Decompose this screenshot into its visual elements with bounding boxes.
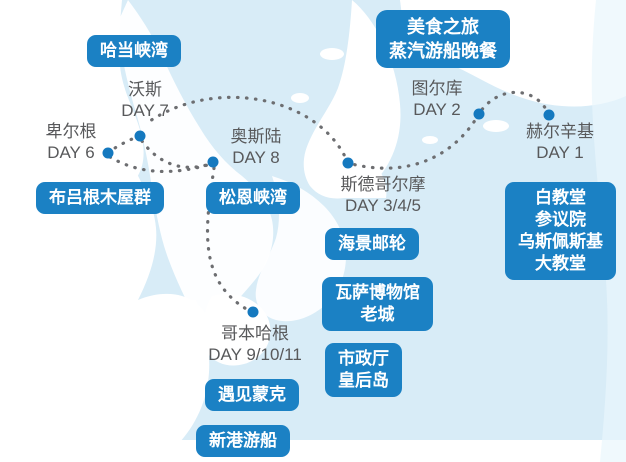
city-day-oslo: DAY 8 — [231, 147, 282, 168]
city-dot-copenhagen[interactable] — [248, 307, 259, 318]
badge-helsinki-sights-line-4: 大教堂 — [518, 253, 603, 275]
city-label-helsinki: 赫尔辛基 DAY 1 — [526, 121, 594, 163]
badge-helsinki-sights-line-2: 参议院 — [518, 209, 603, 231]
city-dot-bergen[interactable] — [103, 148, 114, 159]
city-day-bergen: DAY 6 — [46, 142, 97, 163]
badge-helsinki-sights-line-3: 乌斯佩斯基 — [518, 231, 603, 253]
city-dot-voss[interactable] — [135, 131, 146, 142]
city-name-voss: 沃斯 — [121, 79, 169, 100]
badge-nyhavn-cruise[interactable]: 新港游船 — [196, 425, 290, 457]
city-day-turku: DAY 2 — [412, 99, 463, 120]
badge-vasa-oldtown-line-2: 老城 — [335, 304, 420, 326]
badge-sea-cruise-line-1: 海景邮轮 — [338, 233, 406, 255]
badge-hardangerfjord[interactable]: 哈当峡湾 — [87, 35, 181, 67]
badge-vasa-oldtown-line-1: 瓦萨博物馆 — [335, 282, 420, 304]
badge-food-tour-line-2: 蒸汽游船晚餐 — [389, 39, 497, 63]
badge-food-tour[interactable]: 美食之旅 蒸汽游船晚餐 — [376, 10, 510, 68]
badge-sognefjord[interactable]: 松恩峡湾 — [206, 182, 300, 214]
city-day-stockholm: DAY 3/4/5 — [341, 195, 426, 216]
city-name-turku: 图尔库 — [412, 78, 463, 99]
city-day-helsinki: DAY 1 — [526, 142, 594, 163]
badge-meet-munch[interactable]: 遇见蒙克 — [205, 379, 299, 411]
badge-bryggen-line-1: 布吕根木屋群 — [49, 187, 151, 209]
city-name-stockholm: 斯德哥尔摩 — [341, 174, 426, 195]
badge-meet-munch-line-1: 遇见蒙克 — [218, 384, 286, 406]
badge-cityhall-drottningholm[interactable]: 市政厅 皇后岛 — [325, 343, 402, 397]
badge-helsinki-sights[interactable]: 白教堂 参议院 乌斯佩斯基 大教堂 — [505, 182, 616, 280]
city-name-bergen: 卑尔根 — [46, 121, 97, 142]
badge-food-tour-line-1: 美食之旅 — [389, 15, 497, 39]
travel-route-map: 赫尔辛基 DAY 1 图尔库 DAY 2 斯德哥尔摩 DAY 3/4/5 卑尔根… — [0, 0, 626, 462]
city-day-voss: DAY 7 — [121, 100, 169, 121]
city-label-stockholm: 斯德哥尔摩 DAY 3/4/5 — [341, 174, 426, 216]
badge-sognefjord-line-1: 松恩峡湾 — [219, 187, 287, 209]
badge-nyhavn-cruise-line-1: 新港游船 — [209, 430, 277, 452]
city-name-copenhagen: 哥本哈根 — [208, 323, 302, 344]
city-dot-helsinki[interactable] — [544, 110, 555, 121]
city-dot-oslo[interactable] — [208, 157, 219, 168]
badge-sea-cruise[interactable]: 海景邮轮 — [325, 228, 419, 260]
badge-vasa-oldtown[interactable]: 瓦萨博物馆 老城 — [322, 277, 433, 331]
city-label-turku: 图尔库 DAY 2 — [412, 78, 463, 120]
city-label-copenhagen: 哥本哈根 DAY 9/10/11 — [208, 323, 302, 365]
city-label-oslo: 奥斯陆 DAY 8 — [231, 126, 282, 168]
badge-bryggen[interactable]: 布吕根木屋群 — [36, 182, 164, 214]
city-dot-stockholm[interactable] — [343, 158, 354, 169]
badge-cityhall-drottningholm-line-1: 市政厅 — [338, 348, 389, 370]
badge-hardangerfjord-line-1: 哈当峡湾 — [100, 40, 168, 62]
city-dot-turku[interactable] — [474, 109, 485, 120]
city-label-bergen: 卑尔根 DAY 6 — [46, 121, 97, 163]
city-name-oslo: 奥斯陆 — [231, 126, 282, 147]
badge-cityhall-drottningholm-line-2: 皇后岛 — [338, 370, 389, 392]
city-day-copenhagen: DAY 9/10/11 — [208, 344, 302, 365]
city-label-voss: 沃斯 DAY 7 — [121, 79, 169, 121]
badge-helsinki-sights-line-1: 白教堂 — [518, 187, 603, 209]
city-name-helsinki: 赫尔辛基 — [526, 121, 594, 142]
